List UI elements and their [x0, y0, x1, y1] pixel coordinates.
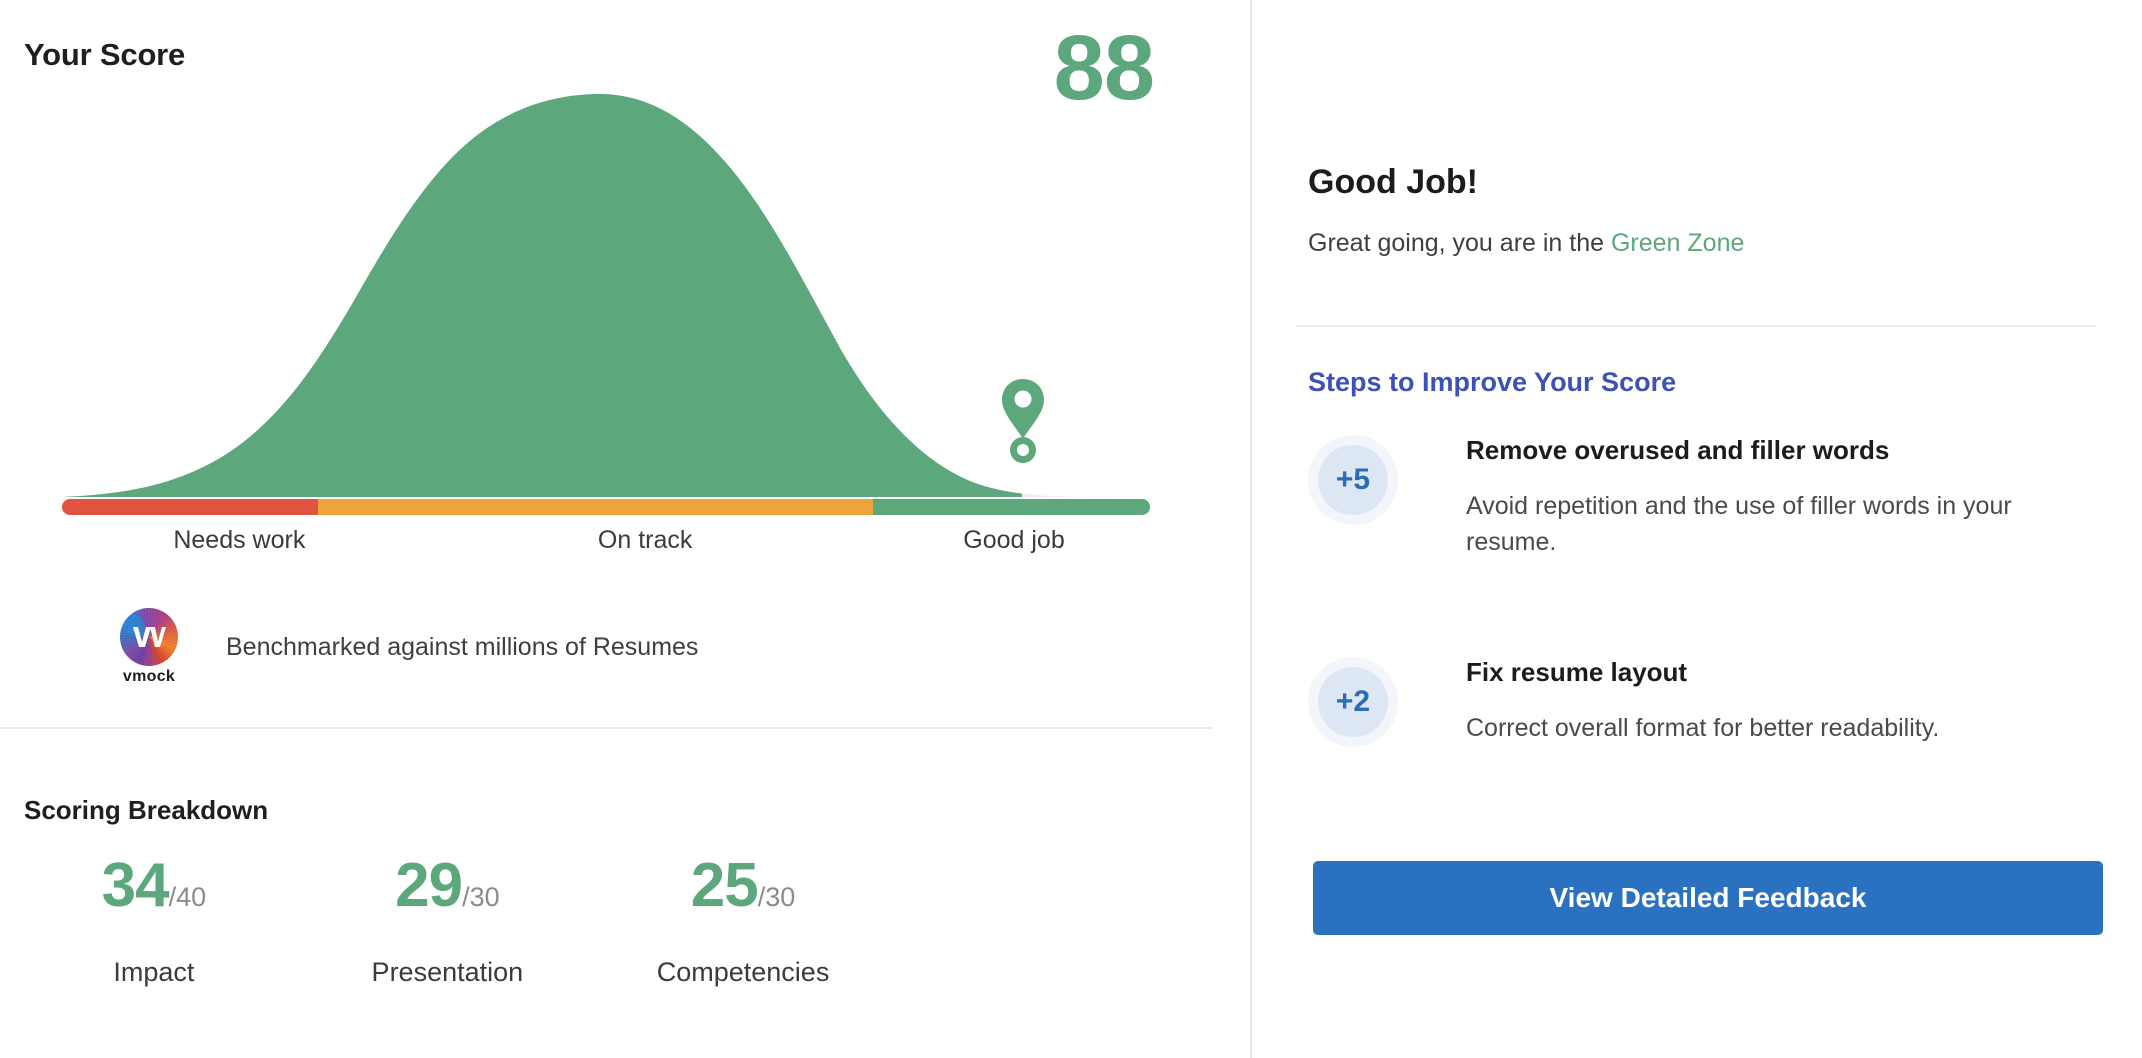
vmock-wordmark: vmock — [123, 668, 175, 686]
zone-label-needs-work: Needs work — [173, 526, 305, 555]
vmock-w-mark-icon — [120, 608, 178, 666]
improvement-step[interactable]: +2 Fix resume layout Correct overall for… — [1308, 657, 2098, 747]
scoring-breakdown-row: 34/40 Impact 29/30 Presentation 25/30 Co… — [24, 855, 1144, 1025]
breakdown-label: Presentation — [372, 957, 524, 988]
breakdown-value: 25 — [691, 851, 758, 920]
steps-heading: Steps to Improve Your Score — [1308, 367, 1676, 398]
curve-filled-region — [62, 94, 1140, 497]
breakdown-score: 29/30 — [372, 855, 524, 917]
vmock-circle-icon — [120, 608, 178, 666]
scoring-breakdown-title: Scoring Breakdown — [24, 795, 268, 826]
step-body: Remove overused and filler words Avoid r… — [1466, 435, 2098, 561]
zone-segment-on-track — [318, 499, 873, 515]
feedback-subtext: Great going, you are in the Green Zone — [1308, 229, 1744, 258]
benchmark-row: vmock Benchmarked against millions of Re… — [112, 608, 698, 686]
step-body: Fix resume layout Correct overall format… — [1466, 657, 2098, 747]
feedback-subtext-prefix: Great going, you are in the — [1308, 229, 1611, 257]
breakdown-value: 29 — [395, 851, 462, 920]
breakdown-denominator: /30 — [758, 882, 796, 912]
zone-labels: Needs work On track Good job — [62, 526, 1150, 560]
benchmark-text: Benchmarked against millions of Resumes — [226, 633, 698, 662]
score-dashboard: Your Score 88 — [0, 0, 2142, 1058]
vmock-logo: vmock — [112, 608, 186, 686]
breakdown-denominator: /40 — [169, 882, 207, 912]
breakdown-item-competencies: 25/30 Competencies — [657, 855, 830, 988]
step-title: Remove overused and filler words — [1466, 435, 2098, 466]
step-points-badge: +5 — [1308, 435, 1398, 525]
step-description: Correct overall format for better readab… — [1466, 710, 2066, 746]
step-points-value: +5 — [1318, 445, 1388, 515]
breakdown-score: 25/30 — [657, 855, 830, 917]
zone-label-on-track: On track — [598, 526, 692, 555]
step-description: Avoid repetition and the use of filler w… — [1466, 488, 2066, 561]
step-points-badge: +2 — [1308, 657, 1398, 747]
view-detailed-feedback-button[interactable]: View Detailed Feedback — [1313, 861, 2103, 935]
bell-curve-svg — [0, 60, 1160, 505]
zone-label-good-job: Good job — [963, 526, 1064, 555]
step-title: Fix resume layout — [1466, 657, 2098, 688]
left-divider — [0, 727, 1212, 729]
breakdown-denominator: /30 — [462, 882, 500, 912]
improvement-step[interactable]: +5 Remove overused and filler words Avoi… — [1308, 435, 2098, 561]
breakdown-score: 34/40 — [102, 855, 207, 917]
score-panel: Your Score 88 — [0, 0, 1252, 1058]
zone-segment-needs-work — [62, 499, 318, 515]
score-marker-dot-icon — [1007, 434, 1039, 466]
breakdown-item-impact: 34/40 Impact — [102, 855, 207, 988]
breakdown-label: Impact — [102, 957, 207, 988]
breakdown-label: Competencies — [657, 957, 830, 988]
zone-segment-good-job — [873, 499, 1150, 515]
green-zone-label: Green Zone — [1611, 229, 1744, 257]
breakdown-item-presentation: 29/30 Presentation — [372, 855, 524, 988]
step-points-value: +2 — [1318, 667, 1388, 737]
breakdown-value: 34 — [102, 851, 169, 920]
right-divider — [1296, 325, 2096, 327]
feedback-heading: Good Job! — [1308, 163, 1478, 202]
zone-bar — [62, 499, 1150, 515]
score-distribution-chart — [0, 60, 1160, 505]
